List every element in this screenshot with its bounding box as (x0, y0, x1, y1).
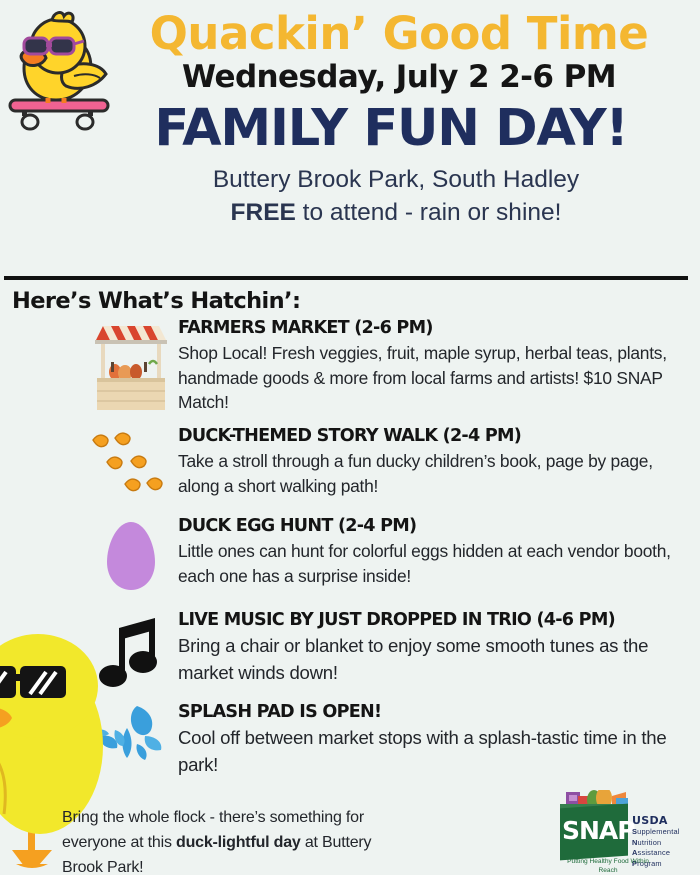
list-item-desc: Cool off between market stops with a spl… (178, 725, 692, 779)
list-item: DUCK EGG HUNT (2-4 PM) Little ones can h… (0, 516, 700, 594)
snap-logo: SNAP USDA Supplemental Nutrition Assista… (558, 790, 694, 872)
admission-rest: to attend - rain or shine! (296, 199, 562, 226)
list-item-desc: Bring a chair or blanket to enjoy some s… (178, 633, 692, 687)
snap-line3-rest: ssistance (638, 848, 671, 857)
list-item-title: DUCK-THEMED STORY WALK (2-4 PM) (178, 426, 692, 448)
duck-on-skateboard-icon (2, 8, 120, 133)
list-item-title: DUCK EGG HUNT (2-4 PM) (178, 516, 692, 538)
snap-brand: SNAP (562, 818, 630, 843)
list-item-body: SPLASH PAD IS OPEN! Cool off between mar… (176, 702, 700, 779)
list-item: DUCK-THEMED STORY WALK (2-4 PM) Take a s… (0, 426, 700, 502)
list-item-body: DUCK EGG HUNT (2-4 PM) Little ones can h… (176, 516, 700, 588)
list-item-desc: Little ones can hunt for colorful eggs h… (178, 539, 692, 588)
closing-bold: duck-lightful day (176, 834, 301, 851)
section-heading: Here’s What’s Hatchin’: (12, 288, 300, 314)
list-item-body: DUCK-THEMED STORY WALK (2-4 PM) Take a s… (176, 426, 700, 498)
page-title: FAMILY FUN DAY! (90, 103, 692, 154)
market-stall-icon (86, 318, 176, 416)
event-flyer: Quackin’ Good Time Wednesday, July 2 2-6… (0, 0, 700, 875)
usda-label: USDA (632, 814, 668, 827)
flyer-header: Quackin’ Good Time Wednesday, July 2 2-6… (0, 0, 700, 272)
purple-egg-icon (86, 516, 176, 594)
list-item: FARMERS MARKET (2-6 PM) Shop Local! Fres… (0, 318, 700, 416)
list-item-title: FARMERS MARKET (2-6 PM) (178, 318, 692, 340)
event-date: Wednesday, July 2 2-6 PM (106, 59, 692, 96)
snap-tagline: Putting Healthy Food Within Reach (558, 858, 658, 875)
snap-line1-rest: upplemental (637, 827, 679, 836)
flyer-title: Quackin’ Good Time (106, 10, 692, 57)
list-item-title: SPLASH PAD IS OPEN! (178, 702, 692, 724)
list-item-desc: Take a stroll through a fun ducky childr… (178, 449, 692, 498)
snap-line2-rest: utrition (638, 838, 662, 847)
duck-footprints-icon (86, 426, 176, 502)
list-item-title: LIVE MUSIC BY JUST DROPPED IN TRIO (4-6 … (178, 610, 692, 632)
list-item-body: LIVE MUSIC BY JUST DROPPED IN TRIO (4-6 … (176, 610, 700, 687)
divider (4, 276, 688, 280)
admission-note: FREE to attend - rain or shine! (100, 197, 692, 229)
list-item-desc: Shop Local! Fresh veggies, fruit, maple … (178, 341, 692, 415)
closing-paragraph: Bring the whole flock - there’s somethin… (62, 806, 392, 875)
list-item-body: FARMERS MARKET (2-6 PM) Shop Local! Fres… (176, 318, 700, 415)
free-label: FREE (231, 199, 296, 226)
event-venue: Buttery Brook Park, South Hadley (100, 164, 692, 196)
